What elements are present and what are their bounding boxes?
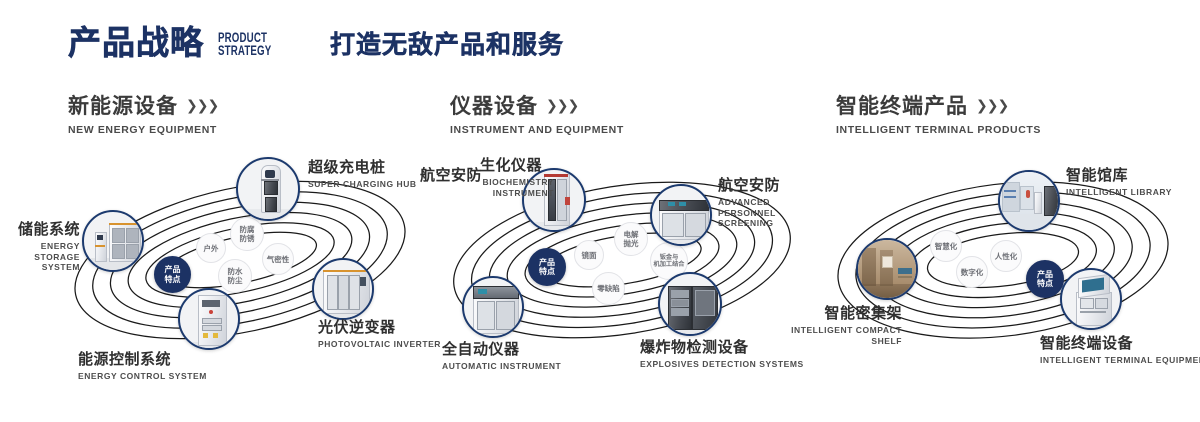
product-name-en: INTELLIGENT LIBRARY xyxy=(1066,187,1172,198)
product-name-en: ADVANCED PERSONNEL SCREENING xyxy=(718,197,814,229)
product-strategy-infographic: 产品战略 PRODUCT STRATEGY 打造无敌产品和服务 新能源设备❯❯❯… xyxy=(0,0,1200,422)
feature-line1: 镜面 xyxy=(582,251,597,260)
orbit-diagram-intelligent-terminal: 智慧化 数字化 人性化 产品特点 智能馆库 xyxy=(818,160,1188,360)
section-heading-new-energy: 新能源设备❯❯❯ NEW ENERGY EQUIPMENT xyxy=(68,96,218,136)
chevron-right-triple-icon: ❯❯❯ xyxy=(186,99,218,113)
page-subtitle: 打造无敌产品和服务 xyxy=(330,32,564,57)
core-feature-text: 产品特点 xyxy=(539,258,555,277)
product-name-en: ENERGY CONTROL SYSTEM xyxy=(78,371,207,382)
section-title-cn: 仪器设备❯❯❯ xyxy=(450,96,624,117)
explosive-detector-rack-icon xyxy=(660,274,720,334)
core-feature-bubble: 产品特点 xyxy=(154,256,191,293)
product-label-intelligent-library: 智能馆库 INTELLIGENT LIBRARY xyxy=(1066,168,1172,198)
feature-line1: 户外 xyxy=(204,244,219,253)
feature-line1: 人性化 xyxy=(995,252,1018,261)
feature-bubble-zero-defect: 零缺陷 xyxy=(592,272,625,305)
core-feature-line1: 产品 xyxy=(165,265,181,274)
feature-line1: 零缺陷 xyxy=(597,284,620,293)
section-title-cn: 新能源设备❯❯❯ xyxy=(68,96,218,117)
feature-bubble-digital: 数字化 xyxy=(956,256,988,288)
feature-line1: 气密性 xyxy=(267,255,290,264)
product-label-aviation-security-left: 航空安防 xyxy=(390,168,482,183)
feature-text: 气密性 xyxy=(267,255,290,264)
screening-machine-icon xyxy=(652,186,710,244)
feature-line1: 电解 xyxy=(624,230,639,239)
product-name-en: EXPLOSIVES DETECTION SYSTEMS xyxy=(640,359,804,370)
feature-bubble-humanized: 人性化 xyxy=(990,240,1022,272)
product-name-cn: 能源控制系统 xyxy=(78,352,207,367)
feature-bubble-waterproof: 防水防尘 xyxy=(218,259,252,293)
product-bubble-personnel-screening[interactable] xyxy=(650,184,712,246)
feature-line1: 数字化 xyxy=(961,268,984,277)
product-name-cn: 航空安防 xyxy=(390,168,482,183)
feature-text: 电解抛光 xyxy=(624,230,639,248)
feature-line2: 防尘 xyxy=(228,276,243,285)
feature-bubble-airtight: 气密性 xyxy=(262,243,294,275)
product-label-biochemistry-instrument: 生化仪器 BIOCHEMISTRY INSTRUMENT xyxy=(480,158,554,198)
section-heading-intelligent-terminal: 智能终端产品❯❯❯ INTELLIGENT TERMINAL PRODUCTS xyxy=(836,96,1041,136)
product-label-personnel-screening: 航空安防 ADVANCED PERSONNEL SCREENING xyxy=(718,178,814,229)
section-title-en: INTELLIGENT TERMINAL PRODUCTS xyxy=(836,124,1041,136)
feature-text: 防腐防锈 xyxy=(240,225,255,243)
product-name-cn: 爆炸物检测设备 xyxy=(640,340,804,355)
product-bubble-pv-inverter[interactable] xyxy=(312,258,374,320)
product-name-cn: 智能终端设备 xyxy=(1040,336,1200,351)
product-label-pv-inverter: 光伏逆变器 PHOTOVOLTAIC INVERTER xyxy=(318,320,441,350)
feature-text: 智慧化 xyxy=(935,242,958,251)
feature-bubble-outdoor: 户外 xyxy=(196,233,226,263)
product-bubble-energy-control[interactable] xyxy=(178,288,240,350)
page-header: 产品战略 PRODUCT STRATEGY 打造无敌产品和服务 xyxy=(0,0,1200,82)
feature-text: 人性化 xyxy=(995,252,1018,261)
feature-text: 零缺陷 xyxy=(597,284,620,293)
section-title-en: INSTRUMENT AND EQUIPMENT xyxy=(450,124,624,136)
page-title-en: PRODUCT STRATEGY xyxy=(218,31,271,57)
product-bubble-super-charging-hub[interactable] xyxy=(236,157,300,221)
feature-text: 镜面 xyxy=(582,251,597,260)
core-feature-line1: 产品 xyxy=(1037,270,1053,279)
core-feature-line2: 特点 xyxy=(165,275,181,284)
feature-bubble-electropolish: 电解抛光 xyxy=(614,222,648,256)
product-label-compact-shelf: 智能密集架 INTELLIGENT COMPACT SHELF xyxy=(782,306,902,346)
feature-text: 户外 xyxy=(204,244,219,253)
pv-inverter-cabinet-icon xyxy=(314,260,372,318)
page-title-en-line2: STRATEGY xyxy=(218,44,271,57)
chevron-right-triple-icon: ❯❯❯ xyxy=(546,99,578,113)
product-name-cn: 光伏逆变器 xyxy=(318,320,441,335)
feature-line2: 抛光 xyxy=(624,239,639,248)
feature-text: 数字化 xyxy=(961,268,984,277)
product-bubble-terminal-equipment[interactable] xyxy=(1060,268,1122,330)
ev-charging-pile-icon xyxy=(238,159,298,219)
feature-bubble-anticorrosion: 防腐防锈 xyxy=(230,217,264,251)
feature-line1: 智慧化 xyxy=(935,242,958,251)
core-feature-bubble: 产品特点 xyxy=(528,248,566,286)
page-title-cn: 产品战略 xyxy=(68,26,204,59)
product-name-en: PHOTOVOLTAIC INVERTER xyxy=(318,339,441,350)
compact-shelving-icon xyxy=(858,240,916,298)
automatic-analyzer-icon xyxy=(464,278,522,336)
product-name-cn: 全自动仪器 xyxy=(442,342,561,357)
product-label-energy-control: 能源控制系统 ENERGY CONTROL SYSTEM xyxy=(78,352,207,382)
core-feature-line2: 特点 xyxy=(539,267,555,276)
product-label-energy-storage: 储能系统 ENERGY STORAGE SYSTEM xyxy=(6,222,80,273)
core-feature-text: 产品特点 xyxy=(1037,270,1053,289)
section-title-cn-text: 仪器设备 xyxy=(450,94,538,118)
section-title-cn: 智能终端产品❯❯❯ xyxy=(836,96,1041,117)
feature-bubble-intelligent: 智慧化 xyxy=(930,230,962,262)
feature-text: 防水防尘 xyxy=(228,267,243,285)
feature-line1: 防水 xyxy=(228,267,243,276)
core-feature-line1: 产品 xyxy=(539,258,555,267)
core-feature-text: 产品特点 xyxy=(165,265,181,284)
product-label-automatic-instrument: 全自动仪器 AUTOMATIC INSTRUMENT xyxy=(442,342,561,372)
product-name-cn: 智能馆库 xyxy=(1066,168,1172,183)
product-bubble-automatic-instrument[interactable] xyxy=(462,276,524,338)
smart-library-room-icon xyxy=(1000,172,1058,230)
product-bubble-energy-storage[interactable] xyxy=(82,210,144,272)
feature-line1: 防腐 xyxy=(240,225,255,234)
product-name-cn: 航空安防 xyxy=(718,178,814,193)
product-name-en: AUTOMATIC INSTRUMENT xyxy=(442,361,561,372)
product-bubble-explosives-detection[interactable] xyxy=(658,272,722,336)
core-feature-bubble: 产品特点 xyxy=(1026,260,1064,298)
self-service-kiosk-icon xyxy=(1062,270,1120,328)
orbit-diagram-instrument: 产品特点 镜面 电解抛光 钣金与机加工结合 零缺陷 航空安防 xyxy=(432,160,812,360)
product-bubble-intelligent-library[interactable] xyxy=(998,170,1060,232)
product-name-en: BIOCHEMISTRY INSTRUMENT xyxy=(480,177,554,198)
control-cabinet-icon xyxy=(180,290,238,348)
section-heading-instrument: 仪器设备❯❯❯ INSTRUMENT AND EQUIPMENT xyxy=(450,96,624,136)
energy-storage-cabinet-icon xyxy=(84,212,142,270)
feature-bubble-mirror: 镜面 xyxy=(574,240,604,270)
orbit-diagram-new-energy: 产品特点 户外 防腐防锈 防水防尘 气密性 xyxy=(50,160,430,360)
feature-text: 钣金与机加工结合 xyxy=(654,254,685,269)
product-label-terminal-equipment: 智能终端设备 INTELLIGENT TERMINAL EQUIPMENT xyxy=(1040,336,1200,366)
product-name-cn: 储能系统 xyxy=(6,222,80,237)
section-title-cn-text: 新能源设备 xyxy=(68,94,178,118)
feature-line2: 机加工结合 xyxy=(654,261,685,268)
product-name-en: INTELLIGENT COMPACT SHELF xyxy=(782,325,902,346)
product-bubble-compact-shelf[interactable] xyxy=(856,238,918,300)
feature-line2: 防锈 xyxy=(240,234,255,243)
product-name-en: ENERGY STORAGE SYSTEM xyxy=(6,241,80,273)
feature-line1: 钣金与 xyxy=(660,254,679,261)
section-title-en: NEW ENERGY EQUIPMENT xyxy=(68,124,218,136)
product-label-explosives-detection: 爆炸物检测设备 EXPLOSIVES DETECTION SYSTEMS xyxy=(640,340,804,370)
product-name-cn: 生化仪器 xyxy=(480,158,554,173)
product-name-en: INTELLIGENT TERMINAL EQUIPMENT xyxy=(1040,355,1200,366)
core-feature-line2: 特点 xyxy=(1037,279,1053,288)
chevron-right-triple-icon: ❯❯❯ xyxy=(976,99,1008,113)
section-title-cn-text: 智能终端产品 xyxy=(836,94,968,118)
product-name-cn: 智能密集架 xyxy=(782,306,902,321)
